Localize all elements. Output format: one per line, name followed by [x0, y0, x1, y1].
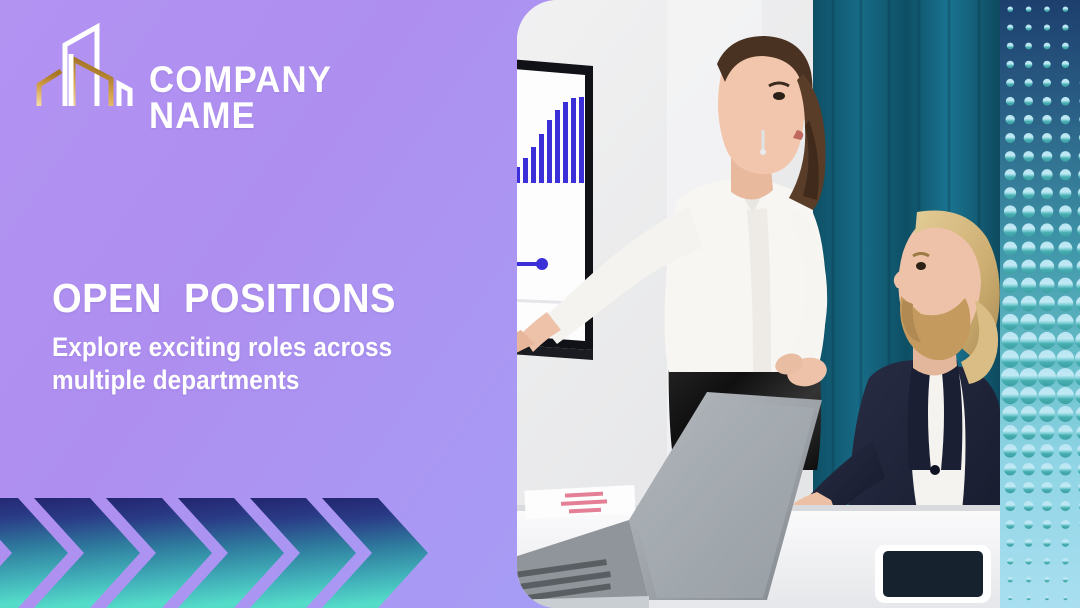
halftone-dot-strip	[1000, 0, 1080, 608]
desk-papers	[524, 485, 635, 519]
page-subtitle: Explore exciting roles across multiple d…	[52, 331, 459, 397]
building-skyline-icon	[18, 18, 146, 140]
brand-logo[interactable]: COMPANY NAME	[18, 18, 348, 140]
banner-root: COMPANY NAME OPEN POSITIONS Explore exci…	[0, 0, 1080, 608]
office-presentation-photo	[517, 0, 1007, 608]
page-title: OPEN POSITIONS	[52, 278, 472, 319]
chevron-arrow-strip	[0, 498, 455, 608]
company-name-text: COMPANY NAME	[149, 62, 332, 135]
left-content-panel: COMPANY NAME OPEN POSITIONS Explore exci…	[0, 0, 540, 608]
smartphone	[875, 545, 991, 603]
headline-block: OPEN POSITIONS Explore exciting roles ac…	[52, 278, 504, 397]
